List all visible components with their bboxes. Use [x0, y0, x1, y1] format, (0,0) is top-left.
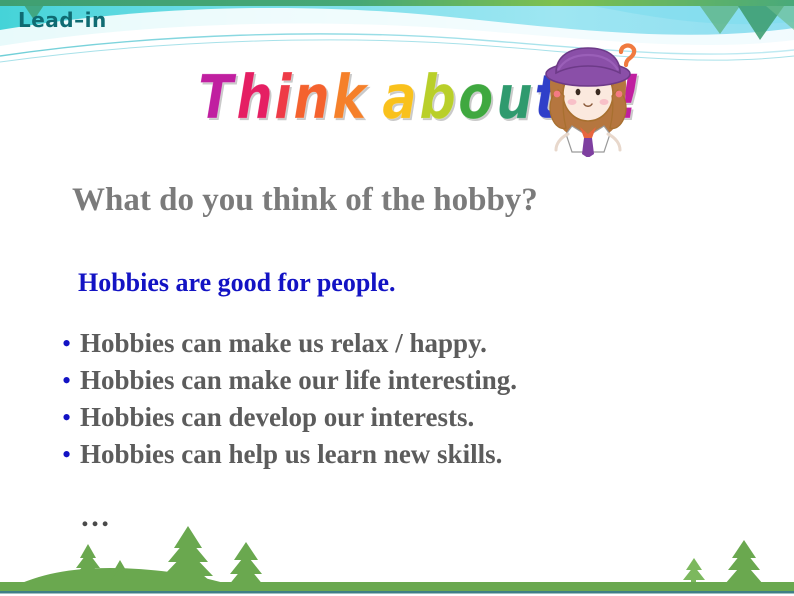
purple-hat [546, 48, 630, 86]
hair-tie-left [554, 91, 561, 98]
wordart-letter-b: b [419, 58, 454, 136]
pine-tree-large-left [158, 526, 218, 590]
ground-bar [0, 582, 794, 591]
wordart-letter-T: T [198, 58, 231, 136]
bullet-marker-icon: • [62, 442, 80, 468]
wordart-letter-n: n [293, 58, 328, 136]
list-item-label: Hobbies can develop our interests. [80, 402, 474, 433]
footer-decoration [0, 516, 794, 596]
underline-bar [0, 591, 794, 594]
cheek-left [568, 99, 577, 105]
list-item-label: Hobbies can make us relax / happy. [80, 328, 487, 359]
list-item-label: Hobbies can help us learn new skills. [80, 439, 502, 470]
wordart-letter-o: o [459, 58, 492, 136]
list-item: • Hobbies can make our life interesting. [62, 365, 762, 402]
arm-right [608, 134, 620, 150]
list-item: • Hobbies can make us relax / happy. [62, 328, 762, 365]
eye-right [596, 89, 601, 95]
wordart-letter-h: h [236, 58, 271, 136]
wordart-letter-a: a [382, 58, 415, 136]
arm-left [556, 134, 568, 150]
bullet-list: • Hobbies can make us relax / happy. • H… [62, 328, 762, 476]
wordart-letter-u: u [497, 58, 532, 136]
girl-graphic [528, 42, 648, 157]
list-item: • Hobbies can develop our interests. [62, 402, 762, 439]
slide-canvas: Lead–in Thinkaboutit! [0, 0, 794, 596]
lead-in-label: Lead–in [18, 8, 107, 32]
wordart-letter-k: k [332, 58, 364, 136]
eye-left [576, 89, 581, 95]
thinking-girl-illustration [528, 42, 648, 157]
list-item: • Hobbies can help us learn new skills. [62, 439, 762, 476]
wordart-letter-i: i [274, 58, 290, 136]
subheading: Hobbies are good for people. [78, 268, 396, 298]
page-title-question: What do you think of the hobby? [72, 182, 538, 219]
bullet-marker-icon: • [62, 405, 80, 431]
bullet-marker-icon: • [62, 368, 80, 394]
list-item-label: Hobbies can make our life interesting. [80, 365, 517, 396]
footer-graphic [0, 516, 794, 596]
bullet-marker-icon: • [62, 331, 80, 357]
hair-tie-right [616, 91, 623, 98]
cheek-right [600, 99, 609, 105]
